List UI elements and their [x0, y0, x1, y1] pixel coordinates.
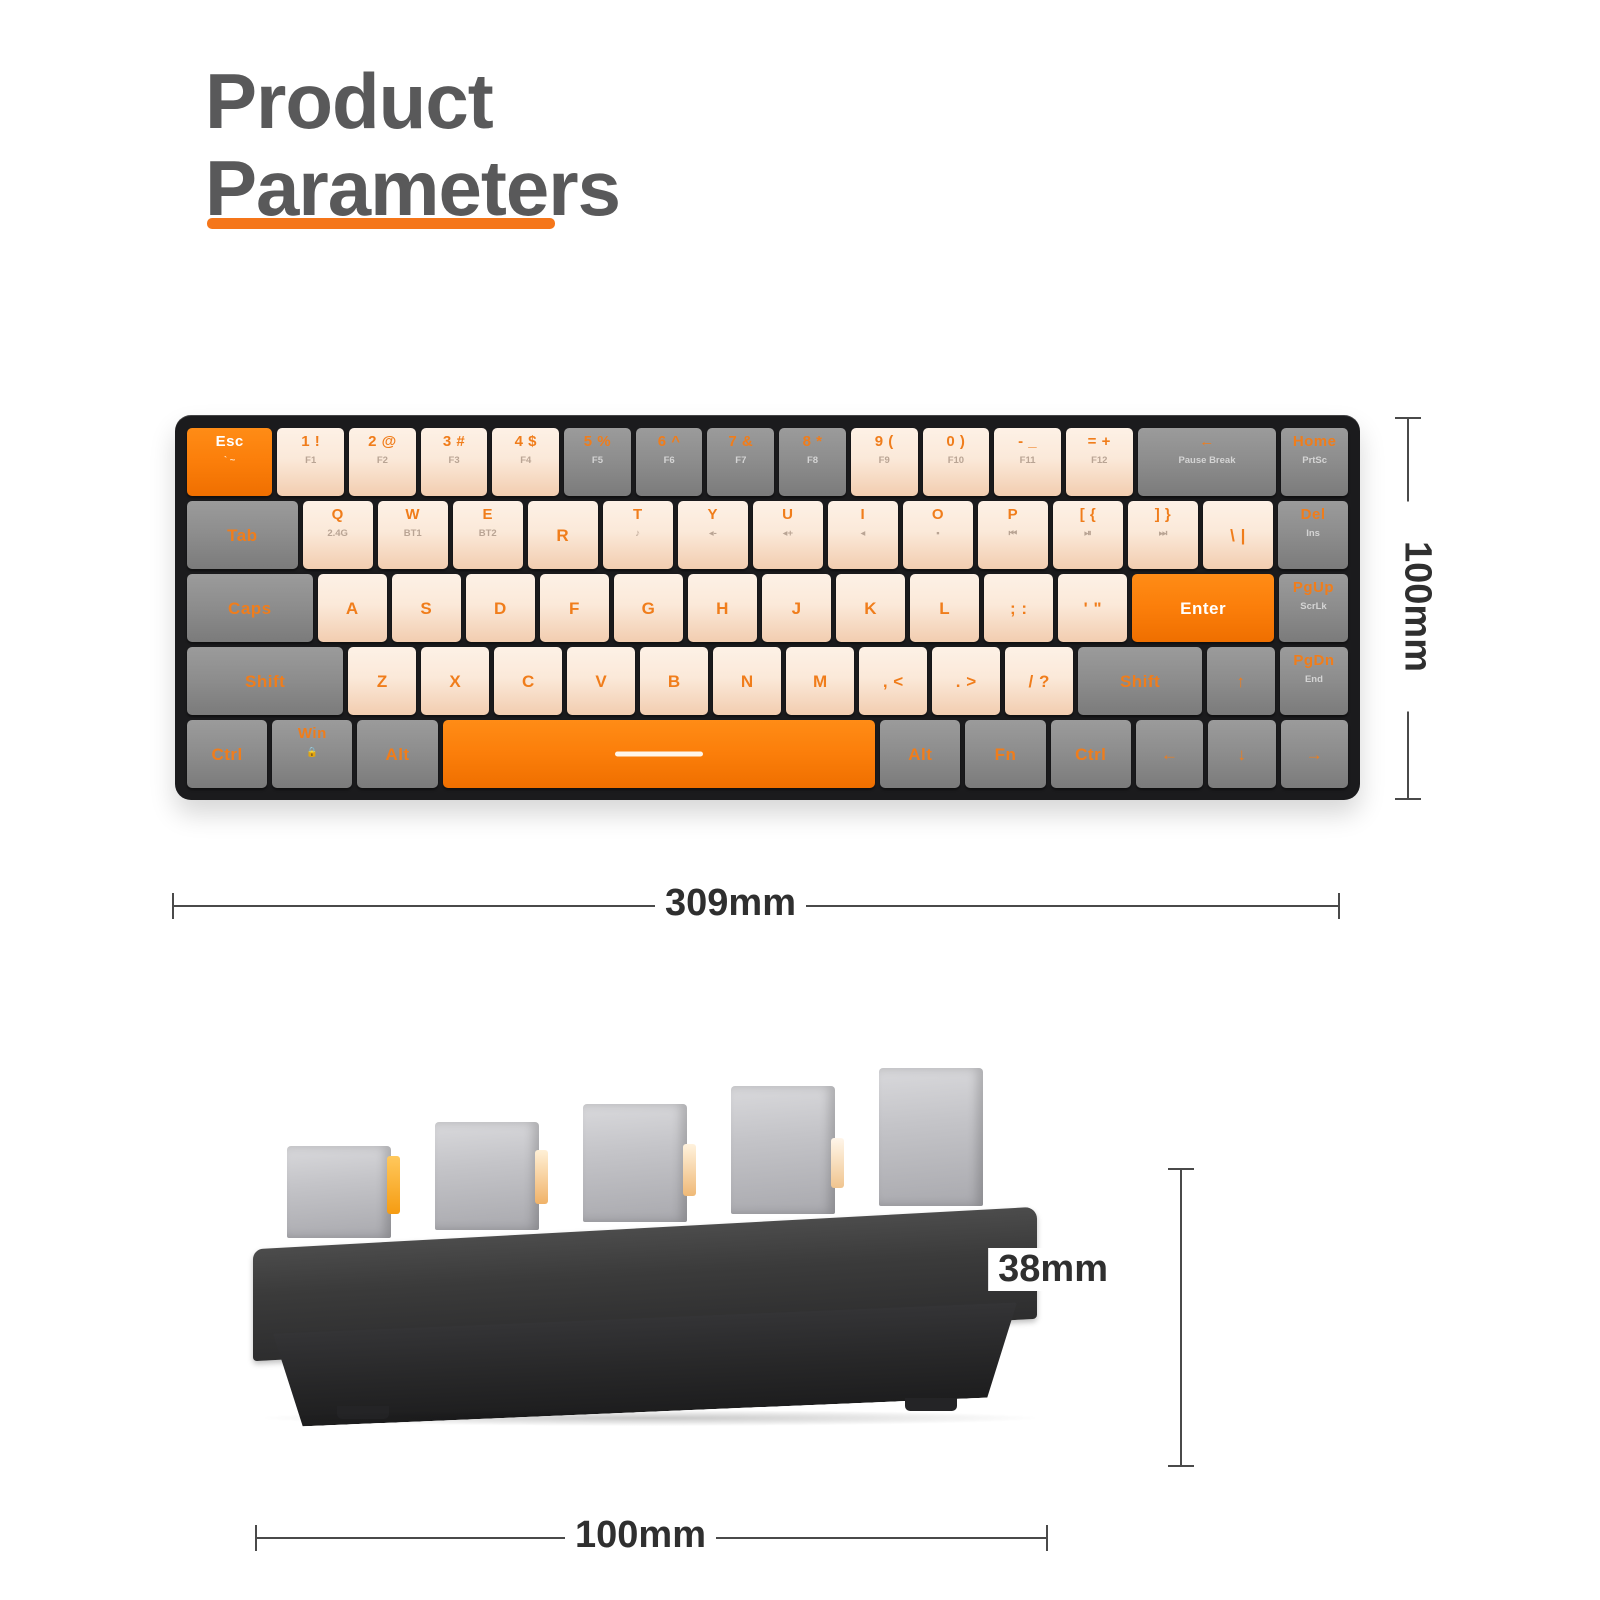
key-legend: G: [642, 600, 656, 617]
key-sublegend: ⏭: [1159, 529, 1168, 539]
key-legend: S: [420, 600, 432, 617]
key-sublegend: Ins: [1306, 529, 1320, 539]
arrow-left-icon: ←: [1161, 746, 1179, 763]
key-t[interactable]: T♪: [603, 501, 673, 569]
key-n[interactable]: N: [713, 647, 781, 715]
key-legend: \ |: [1230, 527, 1246, 544]
key-legend: 9 (: [875, 434, 894, 449]
key-legend: X: [449, 673, 461, 690]
key-legend: C: [522, 673, 535, 690]
key-legend: PgDn: [1293, 653, 1334, 668]
key-sublegend: Pause Break: [1178, 456, 1235, 466]
key-legend: E: [482, 507, 493, 522]
key-sublegend: F11: [1020, 456, 1036, 466]
key-legend: D: [494, 600, 507, 617]
arrow-right-icon[interactable]: →: [1281, 720, 1348, 788]
key-sublegend: ◂-: [709, 529, 717, 539]
page-title: Product Parameters: [205, 58, 965, 233]
key-[interactable]: ' ": [1058, 574, 1127, 642]
key-legend: L: [939, 600, 950, 617]
key-m[interactable]: M: [786, 647, 854, 715]
key-esc[interactable]: Esc` ~: [187, 428, 272, 496]
key-legend: J: [792, 600, 802, 617]
key-legend: Alt: [385, 746, 409, 763]
key-sublegend: BT1: [404, 529, 422, 539]
key-legend: V: [595, 673, 607, 690]
backspace-arrow-icon[interactable]: ←Pause Break: [1138, 428, 1277, 496]
key-legend: N: [741, 673, 754, 690]
key-k[interactable]: K: [836, 574, 905, 642]
key-e[interactable]: EBT2: [453, 501, 523, 569]
dim-cap-bottom-38: [1168, 1465, 1194, 1467]
key-sublegend: F1: [305, 456, 316, 466]
home-row: CapsASDFGHJKL; :' "EnterPgUpScrLk: [187, 574, 1348, 642]
key-legend: 6 ^: [658, 434, 681, 449]
key-l[interactable]: L: [910, 574, 979, 642]
key-sublegend: 🔒: [306, 748, 318, 758]
key-sublegend: ♪: [635, 529, 640, 539]
side-keycap: [583, 1104, 687, 1222]
function-row: Esc` ~1 !F12 @F23 #F34 $F45 %F56 ^F67 &F…: [187, 428, 1348, 496]
key-legend: ' ": [1084, 600, 1102, 617]
key-d[interactable]: D: [466, 574, 535, 642]
key-sublegend: F12: [1091, 456, 1107, 466]
key-legend: O: [932, 507, 944, 522]
key-5[interactable]: 5 %F5: [564, 428, 631, 496]
key-v[interactable]: V: [567, 647, 635, 715]
key-legend: I: [861, 507, 866, 522]
side-keycap: [731, 1086, 835, 1214]
key-x[interactable]: X: [421, 647, 489, 715]
key-p[interactable]: P⏮: [978, 501, 1048, 569]
key-sublegend: ⏯: [1084, 529, 1092, 539]
side-keycap: [879, 1068, 983, 1206]
key-c[interactable]: C: [494, 647, 562, 715]
key-s[interactable]: S: [392, 574, 461, 642]
key-sublegend: ` ~: [224, 456, 235, 466]
key-shift[interactable]: Shift: [187, 647, 343, 715]
space-bar[interactable]: [443, 720, 876, 788]
key-sublegend: 2.4G: [327, 529, 348, 539]
key-legend: 8 *: [803, 434, 823, 449]
key-q[interactable]: Q2.4G: [303, 501, 373, 569]
key-a[interactable]: A: [318, 574, 387, 642]
key-shift[interactable]: Shift: [1078, 647, 1202, 715]
key-legend: 7 &: [728, 434, 753, 449]
key-legend: P: [1008, 507, 1019, 522]
drop-shadow: [265, 1410, 1035, 1426]
key-sublegend: ScrLk: [1300, 602, 1326, 612]
key-legend: ] }: [1155, 507, 1172, 522]
key-legend: Esc: [216, 434, 244, 449]
key-pgup[interactable]: PgUpScrLk: [1279, 574, 1348, 642]
key-sublegend: F3: [449, 456, 460, 466]
arrow-up-icon: ↑: [1236, 673, 1245, 690]
key-sublegend: F5: [592, 456, 603, 466]
shift-row: ShiftZXCVBNM, <. >/ ?Shift↑PgDnEnd: [187, 647, 1348, 715]
key-legend: 3 #: [443, 434, 465, 449]
key-alt[interactable]: Alt: [880, 720, 960, 788]
key-[interactable]: [ {⏯: [1053, 501, 1123, 569]
key-legend: Ctrl: [1075, 746, 1106, 763]
key-caps[interactable]: Caps: [187, 574, 313, 642]
key-1[interactable]: 1 !F1: [277, 428, 344, 496]
key-legend: PgUp: [1293, 580, 1334, 595]
key-sublegend: F10: [948, 456, 964, 466]
key-legend: H: [716, 600, 729, 617]
key-legend: [ {: [1080, 507, 1097, 522]
key-j[interactable]: J: [762, 574, 831, 642]
key-legend: Enter: [1180, 600, 1226, 617]
dim-cap-bottom: [1395, 798, 1421, 800]
key-ctrl[interactable]: Ctrl: [187, 720, 267, 788]
key-legend: M: [813, 673, 828, 690]
title-line-1: Product: [205, 58, 965, 145]
key-sublegend: F7: [735, 456, 746, 466]
key-sublegend: F9: [879, 456, 890, 466]
rgb-glow-icon: [831, 1138, 844, 1188]
key-legend: 5 %: [584, 434, 611, 449]
key-4[interactable]: 4 $F4: [492, 428, 559, 496]
key-sublegend: F8: [807, 456, 818, 466]
key-legend: U: [782, 507, 793, 522]
keyboard-side-view: [245, 1110, 1045, 1470]
key-u[interactable]: U◂+: [753, 501, 823, 569]
key-i[interactable]: I◂: [828, 501, 898, 569]
title-line-2: Parameters: [205, 144, 620, 232]
key-legend: T: [633, 507, 643, 522]
key-g[interactable]: G: [614, 574, 683, 642]
key-tab[interactable]: Tab: [187, 501, 298, 569]
key-8[interactable]: 8 *F8: [779, 428, 846, 496]
key-legend: Del: [1301, 507, 1326, 522]
key-[interactable]: / ?: [1005, 647, 1073, 715]
key-sublegend: End: [1305, 675, 1323, 685]
key-[interactable]: = +F12: [1066, 428, 1133, 496]
key-home[interactable]: HomePrtSc: [1281, 428, 1348, 496]
key-legend: W: [405, 507, 420, 522]
key-[interactable]: . >: [932, 647, 1000, 715]
key-legend: ; :: [1010, 600, 1028, 617]
key-legend: Win: [298, 726, 327, 741]
key-legend: A: [346, 600, 359, 617]
key-sublegend: BT2: [479, 529, 497, 539]
key-sublegend: F4: [520, 456, 531, 466]
backspace-arrow-icon: ←: [1199, 434, 1215, 449]
key-r[interactable]: R: [528, 501, 598, 569]
key-legend: Alt: [908, 746, 932, 763]
arrow-left-icon[interactable]: ←: [1136, 720, 1203, 788]
key-legend: K: [864, 600, 877, 617]
key-legend: R: [556, 527, 569, 544]
key-legend: Q: [332, 507, 344, 522]
key-fn[interactable]: Fn: [965, 720, 1045, 788]
key-0[interactable]: 0 )F10: [923, 428, 990, 496]
key-legend: / ?: [1029, 673, 1050, 690]
key-legend: . >: [956, 673, 977, 690]
arrow-up-icon[interactable]: ↑: [1207, 647, 1275, 715]
key-del[interactable]: DelIns: [1278, 501, 1348, 569]
qwerty-row: TabQ2.4GWBT1EBT2RT♪Y◂-U◂+I◂O▪P⏮[ {⏯] }⏭\…: [187, 501, 1348, 569]
arrow-right-icon: →: [1306, 746, 1324, 763]
key-legend: B: [668, 673, 681, 690]
key-sublegend: ◂+: [783, 529, 793, 539]
key-sublegend: ⏮: [1009, 529, 1018, 539]
key-legend: Shift: [1120, 673, 1160, 690]
key-[interactable]: , <: [859, 647, 927, 715]
dimension-height-label: 38mm: [988, 1248, 1118, 1291]
space-bar-indicator: [615, 752, 703, 757]
key-ctrl[interactable]: Ctrl: [1051, 720, 1131, 788]
key-sublegend: F6: [664, 456, 675, 466]
key-o[interactable]: O▪: [903, 501, 973, 569]
dimension-depth-label: 100mm: [1396, 502, 1439, 712]
side-keycap: [435, 1122, 539, 1230]
key-[interactable]: ] }⏭: [1128, 501, 1198, 569]
key-6[interactable]: 6 ^F6: [636, 428, 703, 496]
side-keycap: [287, 1146, 391, 1238]
key-[interactable]: - _F11: [994, 428, 1061, 496]
key-legend: Y: [708, 507, 719, 522]
key-h[interactable]: H: [688, 574, 757, 642]
arrow-down-icon: ↓: [1237, 746, 1246, 763]
dim-cap-right: [1338, 893, 1340, 919]
key-2[interactable]: 2 @F2: [349, 428, 416, 496]
key-legend: , <: [883, 673, 904, 690]
key-legend: Z: [377, 673, 388, 690]
dimension-side-depth-label: 100mm: [565, 1514, 716, 1557]
rgb-glow-icon: [387, 1156, 400, 1214]
key-sublegend: PrtSc: [1302, 456, 1327, 466]
key-alt[interactable]: Alt: [357, 720, 437, 788]
key-legend: 0 ): [946, 434, 965, 449]
key-legend: 4 $: [515, 434, 537, 449]
key-3[interactable]: 3 #F3: [421, 428, 488, 496]
key-legend: - _: [1018, 434, 1037, 449]
key-[interactable]: ; :: [984, 574, 1053, 642]
key-win[interactable]: Win🔒: [272, 720, 352, 788]
key-7[interactable]: 7 &F7: [707, 428, 774, 496]
key-[interactable]: \ |: [1203, 501, 1273, 569]
key-9[interactable]: 9 (F9: [851, 428, 918, 496]
key-pgdn[interactable]: PgDnEnd: [1280, 647, 1348, 715]
key-legend: = +: [1088, 434, 1111, 449]
key-enter[interactable]: Enter: [1132, 574, 1274, 642]
key-legend: Caps: [228, 600, 272, 617]
key-f[interactable]: F: [540, 574, 609, 642]
dim-cap-right-100: [1046, 1525, 1048, 1551]
key-y[interactable]: Y◂-: [678, 501, 748, 569]
key-legend: Tab: [227, 527, 257, 544]
modifier-row: CtrlWin🔒AltAltFnCtrl←↓→: [187, 720, 1348, 788]
key-sublegend: ▪: [936, 529, 939, 539]
rgb-glow-icon: [535, 1150, 548, 1204]
arrow-down-icon[interactable]: ↓: [1208, 720, 1275, 788]
key-legend: Home: [1293, 434, 1337, 449]
title-line-2-wrap: Parameters: [205, 145, 965, 232]
key-legend: Fn: [995, 746, 1017, 763]
dim-line-height: [1180, 1168, 1182, 1466]
key-sublegend: F2: [377, 456, 388, 466]
key-b[interactable]: B: [640, 647, 708, 715]
key-legend: 1 !: [301, 434, 320, 449]
key-sublegend: ◂: [860, 529, 865, 539]
key-legend: Ctrl: [211, 746, 242, 763]
key-legend: Shift: [245, 673, 285, 690]
key-w[interactable]: WBT1: [378, 501, 448, 569]
key-z[interactable]: Z: [348, 647, 416, 715]
key-legend: F: [569, 600, 580, 617]
dimension-width-label: 309mm: [655, 882, 806, 925]
rgb-glow-icon: [683, 1144, 696, 1196]
keyboard-top-view: Esc` ~1 !F12 @F23 #F34 $F45 %F56 ^F67 &F…: [175, 415, 1360, 800]
key-legend: 2 @: [368, 434, 397, 449]
